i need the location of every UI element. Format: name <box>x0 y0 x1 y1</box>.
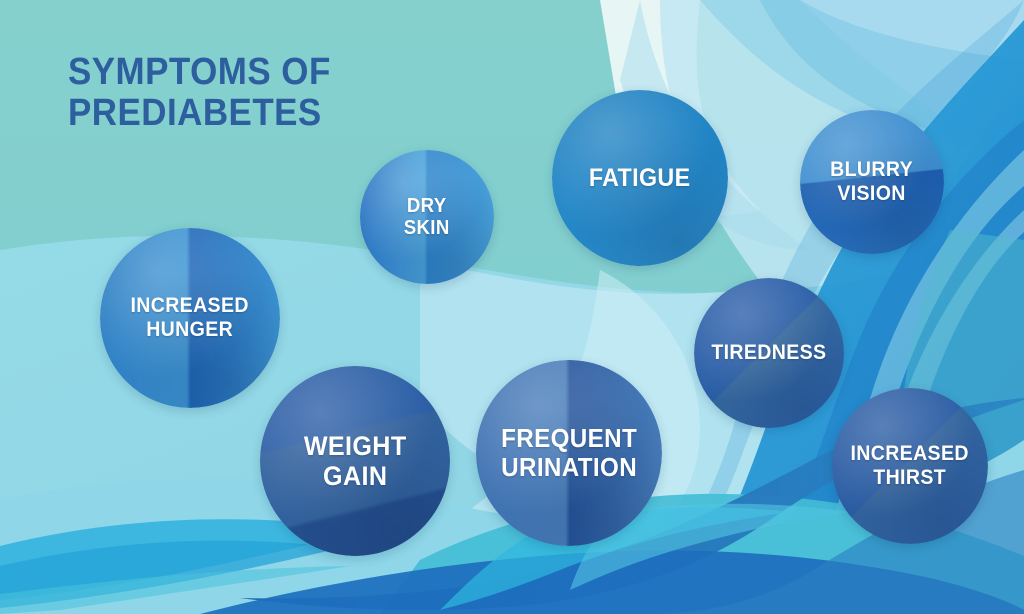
symptom-bubble-blurry-vision[interactable]: BLURRY VISION <box>800 110 944 254</box>
page-title: SYMPTOMS OF PREDIABETES <box>68 52 372 134</box>
symptom-bubble-fatigue[interactable]: FATIGUE <box>552 90 728 266</box>
bubble-label: FATIGUE <box>584 164 697 192</box>
infographic-poster: SYMPTOMS OF PREDIABETES INCREASED HUNGER… <box>0 0 1024 614</box>
symptom-bubble-tiredness[interactable]: TIREDNESS <box>694 278 844 428</box>
symptom-bubble-dry-skin[interactable]: DRY SKIN <box>360 150 494 284</box>
bubble-label: DRY SKIN <box>398 195 455 240</box>
bubble-label: BLURRY VISION <box>825 158 919 205</box>
bubble-label: INCREASED THIRST <box>845 442 975 489</box>
bubble-label: WEIGHT GAIN <box>298 431 412 491</box>
bubble-label: FREQUENT URINATION <box>495 424 642 482</box>
symptom-bubble-weight-gain[interactable]: WEIGHT GAIN <box>260 366 450 556</box>
symptom-bubble-increased-thirst[interactable]: INCREASED THIRST <box>832 388 988 544</box>
symptom-bubble-frequent-urination[interactable]: FREQUENT URINATION <box>476 360 662 546</box>
bubble-label: TIREDNESS <box>706 341 832 365</box>
bubble-label: INCREASED HUNGER <box>125 294 255 341</box>
symptom-bubble-increased-hunger[interactable]: INCREASED HUNGER <box>100 228 280 408</box>
